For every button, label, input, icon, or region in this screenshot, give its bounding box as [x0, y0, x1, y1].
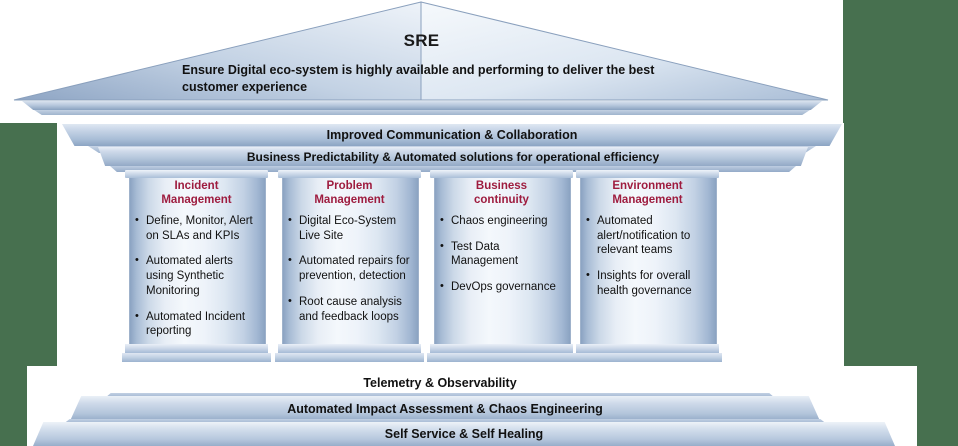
- pillar-title-line-2: continuity: [434, 193, 569, 207]
- pillar-title: Incident Management: [129, 179, 264, 207]
- entablature-band-1: Improved Communication & Collaboration: [62, 124, 842, 146]
- list-item: Automated Incident reporting: [135, 310, 259, 339]
- entablature-band-2-label: Business Predictability & Automated solu…: [247, 150, 659, 164]
- base-step-impact-assessment: Automated Impact Assessment & Chaos Engi…: [70, 396, 820, 421]
- page-title: SRE: [0, 31, 843, 51]
- pillar-title-line-1: Problem: [282, 179, 417, 193]
- pediment-plinth-shadow: [34, 110, 810, 115]
- base-step-1-label: Telemetry & Observability: [363, 376, 516, 390]
- pillar-capital: [125, 170, 268, 178]
- mission-statement: Ensure Digital eco-system is highly avai…: [182, 62, 702, 97]
- pillar-base-shadow: [427, 353, 576, 362]
- list-item: Root cause analysis and feedback loops: [288, 295, 412, 324]
- pillar-title-line-1: Incident: [129, 179, 264, 193]
- list-item: Automated alerts using Synthetic Monitor…: [135, 254, 259, 298]
- pillar-title: Business continuity: [434, 179, 569, 207]
- list-item: Test Data Management: [440, 240, 564, 269]
- pillar-items: Digital Eco-System Live Site Automated r…: [288, 214, 412, 335]
- list-item: Define, Monitor, Alert on SLAs and KPIs: [135, 214, 259, 243]
- pillar-title-line-2: Management: [129, 193, 264, 207]
- base-step-telemetry: Telemetry & Observability: [112, 370, 768, 395]
- pillar-capital: [576, 170, 719, 178]
- list-item: Automated repairs for prevention, detect…: [288, 254, 412, 283]
- list-item: Digital Eco-System Live Site: [288, 214, 412, 243]
- pillar-environment-management[interactable]: Environment Management Automated alert/n…: [580, 170, 715, 362]
- pediment-text-block: SRE Ensure Digital eco-system is highly …: [0, 0, 843, 102]
- list-item: Automated alert/notification to relevant…: [586, 214, 710, 258]
- pillar-base: [576, 344, 719, 353]
- list-item: Insights for overall health governance: [586, 269, 710, 298]
- pillar-title: Environment Management: [580, 179, 715, 207]
- pillar-capital: [430, 170, 573, 178]
- pediment-plinth: [22, 101, 822, 110]
- pillar-base: [278, 344, 421, 353]
- pillar-title-line-2: Management: [282, 193, 417, 207]
- pillar-items: Define, Monitor, Alert on SLAs and KPIs …: [135, 214, 259, 350]
- pillar-incident-management[interactable]: Incident Management Define, Monitor, Ale…: [129, 170, 264, 362]
- pillar-base-shadow: [122, 353, 271, 362]
- pillar-items: Chaos engineering Test Data Management D…: [440, 214, 564, 306]
- pillar-base-shadow: [275, 353, 424, 362]
- pillar-items: Automated alert/notification to relevant…: [586, 214, 710, 310]
- pillar-problem-management[interactable]: Problem Management Digital Eco-System Li…: [282, 170, 417, 362]
- base-step-self-service: Self Service & Self Healing: [33, 422, 895, 446]
- list-item: Chaos engineering: [440, 214, 564, 229]
- entablature-band-2: Business Predictability & Automated solu…: [98, 147, 808, 166]
- pediment-roof: SRE Ensure Digital eco-system is highly …: [0, 0, 843, 102]
- pillar-base-shadow: [573, 353, 722, 362]
- list-item: DevOps governance: [440, 280, 564, 295]
- pillar-title-line-1: Business: [434, 179, 569, 193]
- base-step-3-label: Self Service & Self Healing: [385, 427, 543, 441]
- pillar-capital: [278, 170, 421, 178]
- base-step-2-label: Automated Impact Assessment & Chaos Engi…: [287, 402, 603, 416]
- pillar-base: [430, 344, 573, 353]
- sre-temple-diagram: SRE Ensure Digital eco-system is highly …: [0, 0, 958, 446]
- pillar-title-line-1: Environment: [580, 179, 715, 193]
- entablature-band-1-label: Improved Communication & Collaboration: [327, 128, 578, 142]
- pillar-title: Problem Management: [282, 179, 417, 207]
- pillar-title-line-2: Management: [580, 193, 715, 207]
- pillar-business-continuity[interactable]: Business continuity Chaos engineering Te…: [434, 170, 569, 362]
